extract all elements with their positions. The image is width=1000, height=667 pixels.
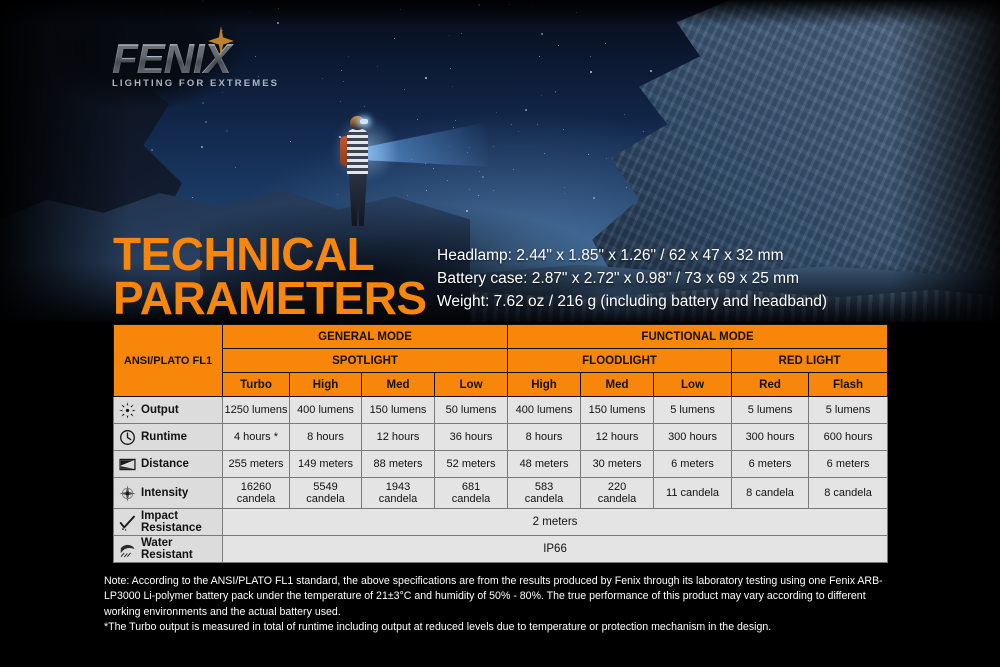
footnote-paragraph-1: Note: According to the ANSI/PLATO FL1 st… [104, 574, 894, 620]
table-corner-label: ANSI/PLATO FL1 [114, 325, 223, 397]
fenix-logo: FENIX LIGHTING FOR EXTREMES [112, 38, 279, 89]
cell-runtime-3: 36 hours [435, 424, 508, 451]
level-header-0: Turbo [223, 373, 290, 397]
cell-intensity-3: 681candela [435, 478, 508, 509]
cell-water-value: IP66 [223, 536, 888, 563]
table-header-lightgroup-row: SPOTLIGHTFLOODLIGHTRED LIGHT [114, 349, 888, 373]
page-title-line1: TECHNICAL [113, 232, 427, 276]
beam-distance-icon [118, 455, 137, 474]
cell-runtime-1: 8 hours [290, 424, 362, 451]
cell-intensity-4: 583candela [508, 478, 581, 509]
row-label-runtime: Runtime [114, 424, 223, 451]
cell-output-6: 5 lumens [654, 397, 732, 424]
cell-distance-5: 30 meters [581, 451, 654, 478]
cell-distance-2: 88 meters [362, 451, 435, 478]
cell-runtime-6: 300 hours [654, 424, 732, 451]
cell-intensity-1: 5549candela [290, 478, 362, 509]
row-label-distance: Distance [114, 451, 223, 478]
spec-battery-case: Battery case: 2.87" x 2.72" x 0.98" / 73… [437, 268, 827, 291]
row-label-text: Distance [141, 458, 189, 470]
cell-distance-3: 52 meters [435, 451, 508, 478]
cell-runtime-2: 12 hours [362, 424, 435, 451]
table-header-level-row: TurboHighMedLowHighMedLowRedFlash [114, 373, 888, 397]
cell-intensity-5: 220candela [581, 478, 654, 509]
top-vignette [0, 0, 1000, 26]
cell-output-5: 150 lumens [581, 397, 654, 424]
cell-output-3: 50 lumens [435, 397, 508, 424]
cell-output-0: 1250 lumens [223, 397, 290, 424]
level-header-4: High [508, 373, 581, 397]
figure-torso [347, 129, 368, 177]
water-drop-icon [118, 540, 137, 559]
cell-runtime-7: 300 hours [732, 424, 809, 451]
compass-intensity-icon [118, 484, 137, 503]
level-header-8: Flash [809, 373, 888, 397]
figure-legs [349, 174, 367, 226]
level-header-7: Red [732, 373, 809, 397]
row-label-intensity: Intensity [114, 478, 223, 509]
cell-runtime-4: 8 hours [508, 424, 581, 451]
cell-runtime-5: 12 hours [581, 424, 654, 451]
row-label-text: WaterResistant [141, 537, 193, 561]
table-header-mode-row: ANSI/PLATO FL1GENERAL MODEFUNCTIONAL MOD… [114, 325, 888, 349]
level-header-1: High [290, 373, 362, 397]
cell-intensity-2: 1943candela [362, 478, 435, 509]
clock-icon [118, 428, 137, 447]
cell-intensity-7: 8 candela [732, 478, 809, 509]
page-title: TECHNICAL PARAMETERS [113, 232, 427, 320]
table-row: Intensity16260candela5549candela1943cand… [114, 478, 888, 509]
page-title-line2: PARAMETERS [113, 276, 427, 320]
cell-distance-7: 6 meters [732, 451, 809, 478]
row-label-impact: ImpactResistance [114, 509, 223, 536]
table-row: Output1250 lumens400 lumens150 lumens50 … [114, 397, 888, 424]
spec-weight: Weight: 7.62 oz / 216 g (including batte… [437, 291, 827, 314]
row-label-text: Output [141, 404, 179, 416]
cell-distance-4: 48 meters [508, 451, 581, 478]
product-spec-page: FENIX LIGHTING FOR EXTREMES TECHNICAL PA… [0, 0, 1000, 667]
level-header-6: Low [654, 373, 732, 397]
table-row: Runtime4 hours *8 hours12 hours36 hours8… [114, 424, 888, 451]
headlamp-device [360, 119, 368, 124]
row-label-text: Runtime [141, 431, 187, 443]
cell-output-2: 150 lumens [362, 397, 435, 424]
row-label-text: Intensity [141, 487, 188, 499]
cell-runtime-8: 600 hours [809, 424, 888, 451]
cell-distance-0: 255 meters [223, 451, 290, 478]
table-row: Distance255 meters149 meters88 meters52 … [114, 451, 888, 478]
spec-headlamp: Headlamp: 2.44" x 1.85" x 1.26" / 62 x 4… [437, 245, 827, 268]
brand-name: FENIX [112, 38, 279, 80]
dimension-specs: Headlamp: 2.44" x 1.85" x 1.26" / 62 x 4… [437, 245, 827, 314]
light-group-header-1: FLOODLIGHT [508, 349, 732, 373]
table-row: ImpactResistance2 meters [114, 509, 888, 536]
level-header-5: Med [581, 373, 654, 397]
cell-output-1: 400 lumens [290, 397, 362, 424]
row-label-water: WaterResistant [114, 536, 223, 563]
cell-distance-6: 6 meters [654, 451, 732, 478]
brand-tagline: LIGHTING FOR EXTREMES [112, 78, 279, 89]
row-label-output: Output [114, 397, 223, 424]
footnote-paragraph-2: *The Turbo output is measured in total o… [104, 620, 894, 635]
hiker-figure [340, 116, 376, 226]
cell-output-4: 400 lumens [508, 397, 581, 424]
specifications-table-wrapper: ANSI/PLATO FL1GENERAL MODEFUNCTIONAL MOD… [113, 324, 887, 563]
level-header-2: Med [362, 373, 435, 397]
table-row: WaterResistantIP66 [114, 536, 888, 563]
checkmark-impact-icon [118, 513, 137, 532]
sunburst-icon [118, 401, 137, 420]
cell-output-8: 5 lumens [809, 397, 888, 424]
mode-group-header-1: FUNCTIONAL MODE [508, 325, 888, 349]
cell-runtime-0: 4 hours * [223, 424, 290, 451]
footnote: Note: According to the ANSI/PLATO FL1 st… [104, 574, 894, 635]
cell-distance-8: 6 meters [809, 451, 888, 478]
specifications-table: ANSI/PLATO FL1GENERAL MODEFUNCTIONAL MOD… [113, 324, 888, 563]
level-header-3: Low [435, 373, 508, 397]
mode-group-header-0: GENERAL MODE [223, 325, 508, 349]
light-group-header-2: RED LIGHT [732, 349, 888, 373]
cell-distance-1: 149 meters [290, 451, 362, 478]
cell-output-7: 5 lumens [732, 397, 809, 424]
cell-impact-value: 2 meters [223, 509, 888, 536]
cell-intensity-6: 11 candela [654, 478, 732, 509]
light-group-header-0: SPOTLIGHT [223, 349, 508, 373]
cell-intensity-8: 8 candela [809, 478, 888, 509]
cell-intensity-0: 16260candela [223, 478, 290, 509]
row-label-text: ImpactResistance [141, 510, 202, 534]
